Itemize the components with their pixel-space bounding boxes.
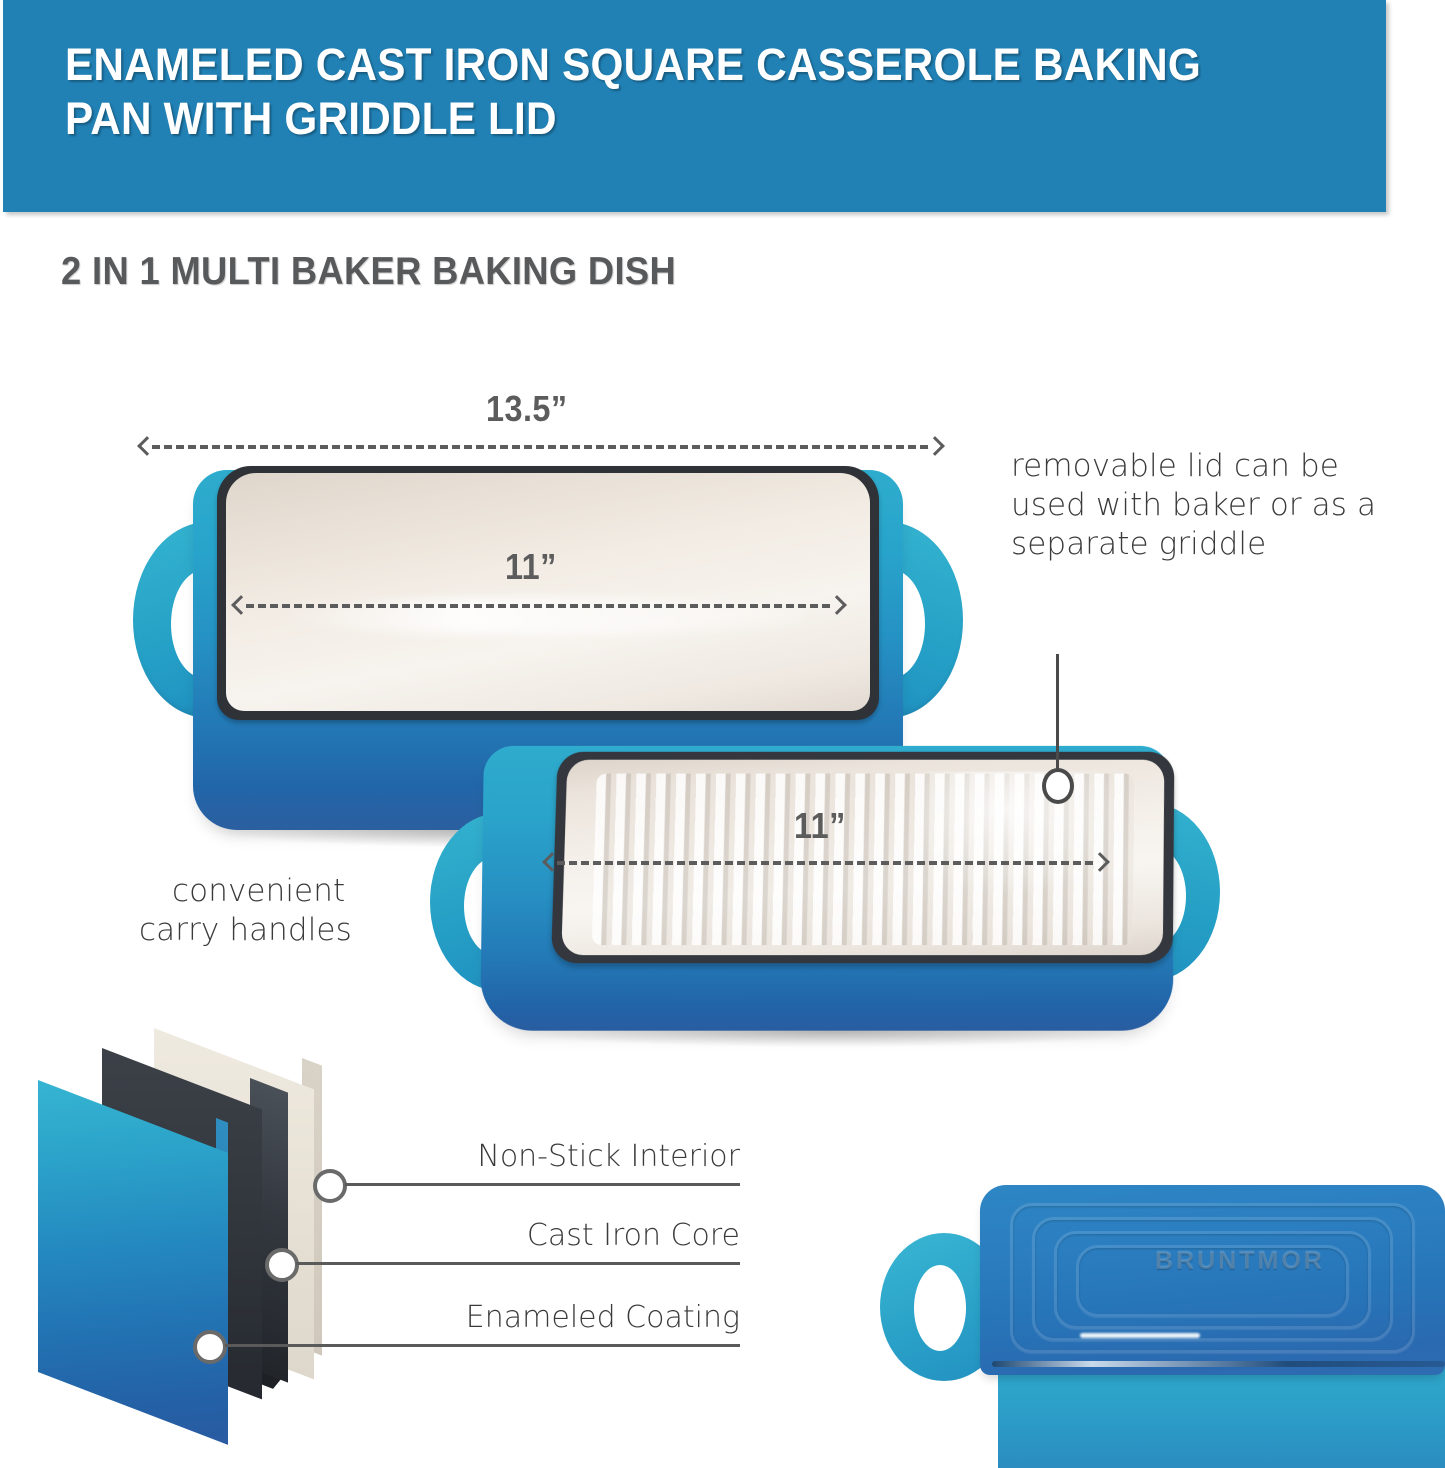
dashed-rule — [246, 604, 830, 608]
callout-pointer-dot-lid — [1042, 768, 1074, 804]
baker-interior-surface — [226, 473, 870, 711]
layer-marker-enamel-icon — [193, 1330, 227, 1364]
lid-brand-emboss: BRUNTMOR — [1155, 1247, 1325, 1276]
dimension-label-outer-width: 13.5” — [486, 388, 568, 430]
layer-label-nonstick: Non-Stick Interior — [340, 1139, 740, 1174]
callout-pointer-line-lid — [1056, 654, 1059, 774]
layer-marker-nonstick-icon — [313, 1169, 347, 1203]
callout-carry-handles-line1: convenient — [172, 872, 572, 911]
handle-hole — [914, 1265, 966, 1351]
page-title: ENAMELED CAST IRON SQUARE CASSEROLE BAKI… — [65, 38, 1287, 146]
layer-marker-cast-iron-icon — [265, 1248, 299, 1282]
arrow-head-right-icon — [1093, 855, 1105, 869]
griddle-gloss-highlight — [923, 771, 1128, 896]
arrow-head-left-icon — [140, 439, 152, 453]
arrow-head-right-icon — [928, 439, 940, 453]
layer-lead-line-enamel — [225, 1344, 740, 1347]
arrow-head-left-icon — [234, 598, 246, 612]
pot-lid-highlight — [1080, 1333, 1200, 1338]
dimension-arrow-griddle — [545, 852, 1105, 872]
baker-rim — [217, 466, 879, 720]
dimension-label-griddle: 11” — [794, 805, 846, 847]
callout-carry-handles-line2: carry handles — [139, 911, 539, 950]
layer-label-cast-iron: Cast Iron Core — [340, 1218, 740, 1253]
layer-lead-line-cast-iron — [296, 1262, 740, 1265]
lidded-casserole-illustration: BRUNTMOR — [880, 1185, 1445, 1468]
dimension-arrow-baker-interior — [234, 595, 842, 615]
pot-base — [998, 1363, 1445, 1468]
callout-removable-lid: removable lid can be used with baker or … — [1011, 447, 1391, 564]
dimension-arrow-outer-width — [140, 436, 940, 456]
pot-lid: BRUNTMOR — [980, 1185, 1445, 1375]
arrow-head-left-icon — [545, 855, 557, 869]
arrow-head-right-icon — [830, 598, 842, 612]
dashed-rule — [152, 445, 928, 449]
pot-lid-seam — [992, 1361, 1445, 1367]
layer-label-enamel: Enameled Coating — [340, 1300, 740, 1335]
dimension-label-baker-interior: 11” — [505, 546, 557, 588]
subtitle: 2 IN 1 MULTI BAKER BAKING DISH — [61, 250, 676, 294]
dashed-rule — [557, 861, 1093, 865]
infographic-page: ENAMELED CAST IRON SQUARE CASSEROLE BAKI… — [0, 0, 1445, 1468]
layer-lead-line-nonstick — [345, 1183, 740, 1186]
header-banner: ENAMELED CAST IRON SQUARE CASSEROLE BAKI… — [3, 0, 1386, 212]
